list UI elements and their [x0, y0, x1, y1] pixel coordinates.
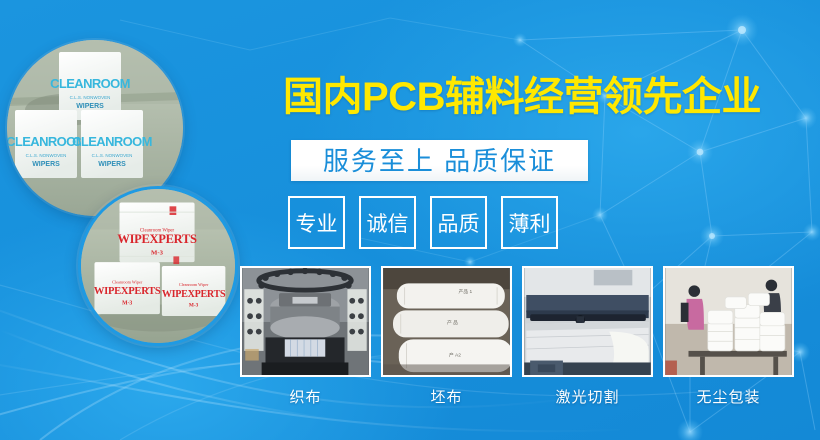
- process-item-3[interactable]: 无尘包装: [663, 266, 794, 407]
- keyword-tag-0[interactable]: 专业: [288, 196, 345, 249]
- product-photo-wipexperts: Cleanroom Wiper WIPEXPERTS M-3 Cleanroom…: [78, 186, 238, 346]
- process-caption-3: 无尘包装: [663, 386, 794, 407]
- svg-text:WIPERS: WIPERS: [32, 161, 60, 168]
- process-thumbnail-strip: 织布: [240, 266, 794, 407]
- keyword-tag-1[interactable]: 诚信: [359, 196, 416, 249]
- svg-text:C.L.S. NONWOVEN: C.L.S. NONWOVEN: [92, 153, 133, 158]
- laser-cutting-machine-image: [524, 268, 651, 375]
- cleanroom-packaging-image: [665, 268, 792, 375]
- wipexperts-packs-illustration: Cleanroom Wiper WIPEXPERTS M-3 Cleanroom…: [81, 189, 235, 343]
- banner-subtitle-text: 服务至上 品质保证: [323, 146, 556, 176]
- greige-fabric-rolls-image: 产品 1 产 品 产 A2: [383, 268, 510, 375]
- svg-text:CLEANROOM: CLEANROOM: [50, 76, 130, 91]
- keyword-tag-2[interactable]: 品质: [430, 196, 487, 249]
- banner-subtitle-bar: 服务至上 品质保证: [291, 140, 588, 181]
- process-item-2[interactable]: 激光切割: [522, 266, 653, 407]
- svg-text:产品 1: 产品 1: [459, 288, 473, 295]
- svg-text:WIPERS: WIPERS: [98, 161, 126, 168]
- thumbnail-frame-laser-cutting[interactable]: [522, 266, 653, 377]
- svg-text:Cleanroom Wiper: Cleanroom Wiper: [179, 282, 209, 287]
- svg-text:Cleanroom Wiper: Cleanroom Wiper: [112, 279, 143, 284]
- process-caption-1: 坯布: [381, 386, 512, 407]
- svg-text:CLEANROOM: CLEANROOM: [72, 134, 152, 149]
- svg-text:WIPEXPERTS: WIPEXPERTS: [117, 232, 197, 246]
- svg-text:WIPEXPERTS: WIPEXPERTS: [162, 289, 226, 300]
- keyword-tag-3[interactable]: 薄利: [501, 196, 558, 249]
- process-item-0[interactable]: 织布: [240, 266, 371, 407]
- banner-headline: 国内PCB辅料经营领先企业: [283, 72, 761, 122]
- keyword-tag-list: 专业 诚信 品质 薄利: [288, 196, 558, 249]
- svg-text:M-3: M-3: [151, 249, 164, 256]
- svg-text:产 品: 产 品: [447, 319, 458, 326]
- thumbnail-frame-greige-fabric[interactable]: 产品 1 产 品 产 A2: [381, 266, 512, 377]
- svg-text:C.L.S. NONWOVEN: C.L.S. NONWOVEN: [70, 95, 111, 100]
- process-item-1[interactable]: 产品 1 产 品 产 A2 坯布: [381, 266, 512, 407]
- process-caption-2: 激光切割: [522, 386, 653, 407]
- process-caption-0: 织布: [240, 386, 371, 407]
- circular-knitting-machine-image: [242, 268, 369, 375]
- promo-banner: CLEANROOM C.L.S. NONWOVEN WIPERS CLEANRO…: [0, 0, 820, 440]
- svg-text:C.L.S. NONWOVEN: C.L.S. NONWOVEN: [26, 153, 67, 158]
- svg-text:WIPEXPERTS: WIPEXPERTS: [94, 286, 161, 297]
- svg-text:WIPERS: WIPERS: [76, 103, 104, 110]
- svg-text:产 A2: 产 A2: [449, 352, 461, 359]
- svg-text:M-3: M-3: [189, 302, 199, 308]
- thumbnail-frame-cleanroom-packaging[interactable]: [663, 266, 794, 377]
- svg-text:M-3: M-3: [122, 301, 132, 307]
- thumbnail-frame-knitting[interactable]: [240, 266, 371, 377]
